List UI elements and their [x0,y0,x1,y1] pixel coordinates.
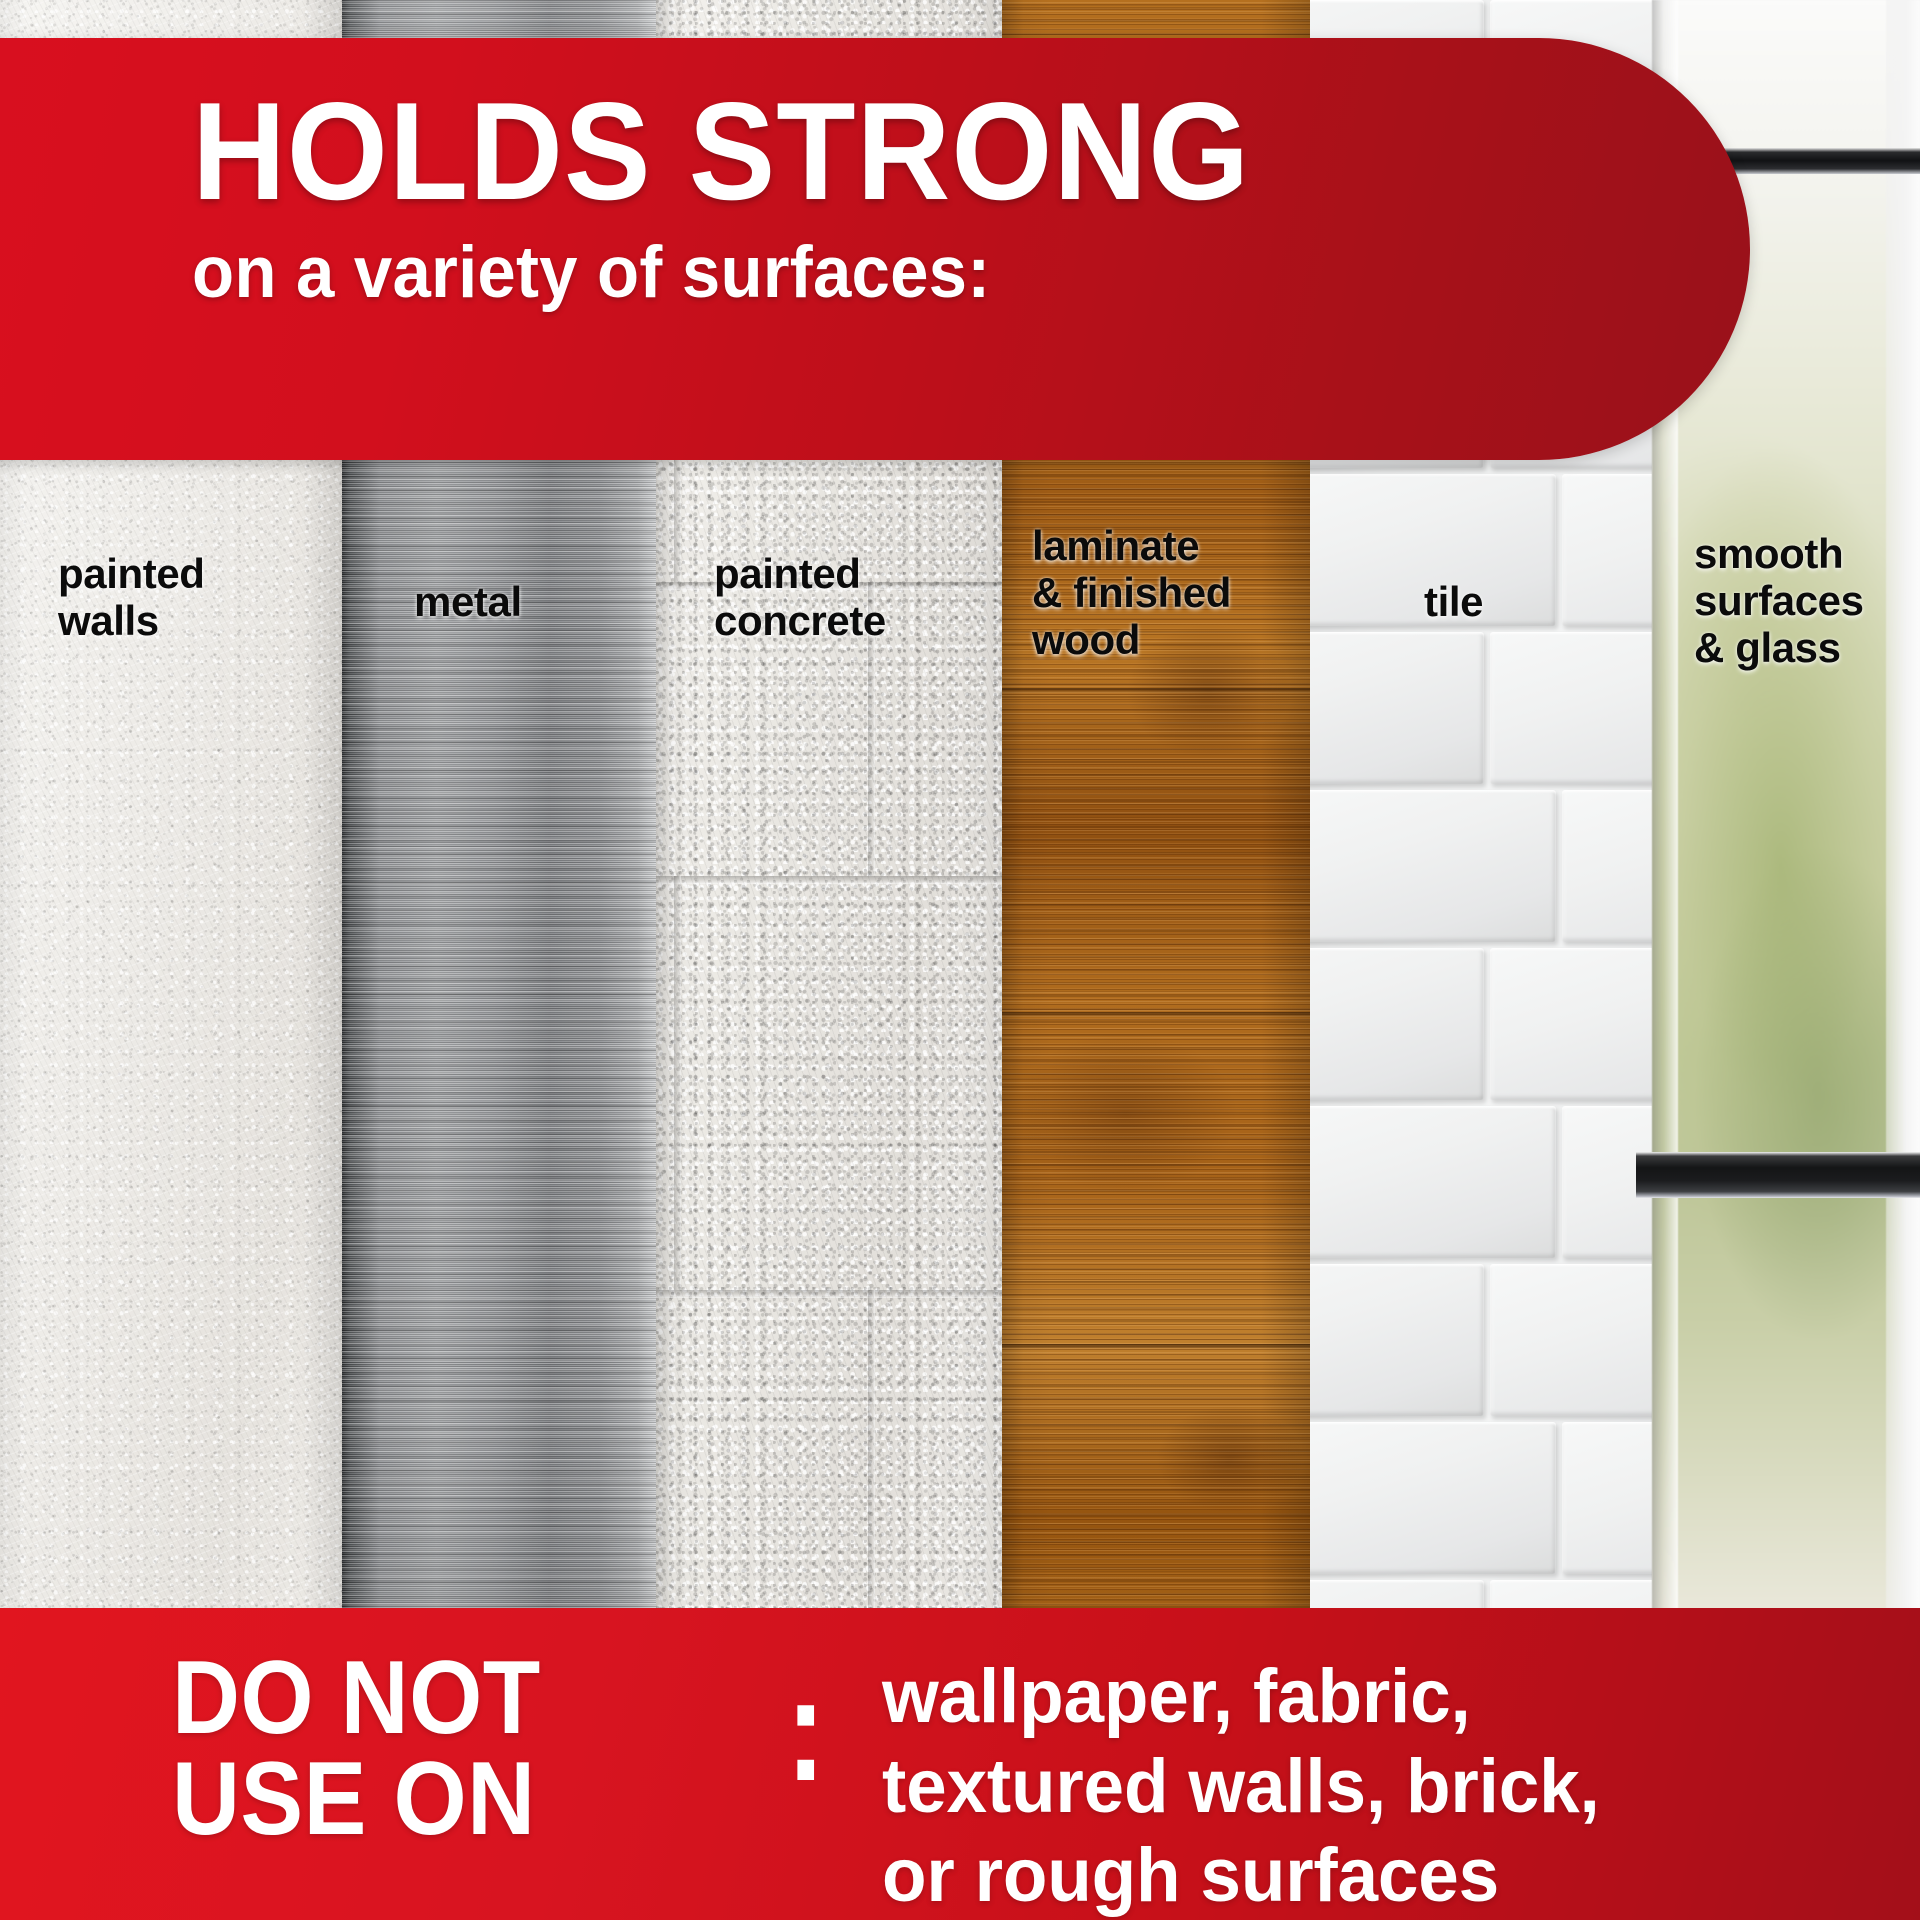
tile-unit [1310,1106,1556,1258]
surface-label-smooth-glass: smooth surfaces & glass [1694,530,1864,671]
plank-seam [1002,1344,1310,1349]
page-headline: HOLDS STRONG [192,86,1250,218]
surface-label-painted-concrete: painted concrete [714,550,886,644]
mortar-joint [674,876,681,1290]
window-frame-bar-middle [1636,1152,1920,1198]
tile-unit [1310,790,1556,942]
warning-list: wallpaper, fabric, textured walls, brick… [882,1652,1600,1920]
warning-label: DO NOT USE ON [172,1648,541,1850]
tile-unit [1310,1264,1484,1416]
tile-unit [1490,632,1652,784]
mortar-joint [656,1290,1002,1298]
surface-label-metal: metal [414,578,522,625]
infographic-root: HOLDS STRONG on a variety of surfaces: p… [0,0,1920,1920]
tile-unit [1310,632,1484,784]
tile-unit [1310,948,1484,1100]
mortar-joint [656,876,1002,884]
mortar-joint [868,1290,875,1660]
page-subheadline: on a variety of surfaces: [192,236,990,309]
warning-banner: DO NOT USE ON : wallpaper, fabric, textu… [0,1608,1920,1920]
plank-seam [1002,688,1310,693]
tile-unit [1562,474,1652,626]
tile-unit [1562,1422,1652,1574]
plank-seam [1002,1012,1310,1017]
tile-unit [1490,1264,1652,1416]
surface-label-painted-walls: painted walls [58,550,205,644]
warning-colon: : [786,1656,825,1804]
tile-unit [1562,790,1652,942]
surface-label-laminate-wood: laminate & finished wood [1032,522,1231,663]
tile-unit [1310,1422,1556,1574]
surface-label-tile: tile [1424,578,1483,625]
tile-unit [1490,948,1652,1100]
